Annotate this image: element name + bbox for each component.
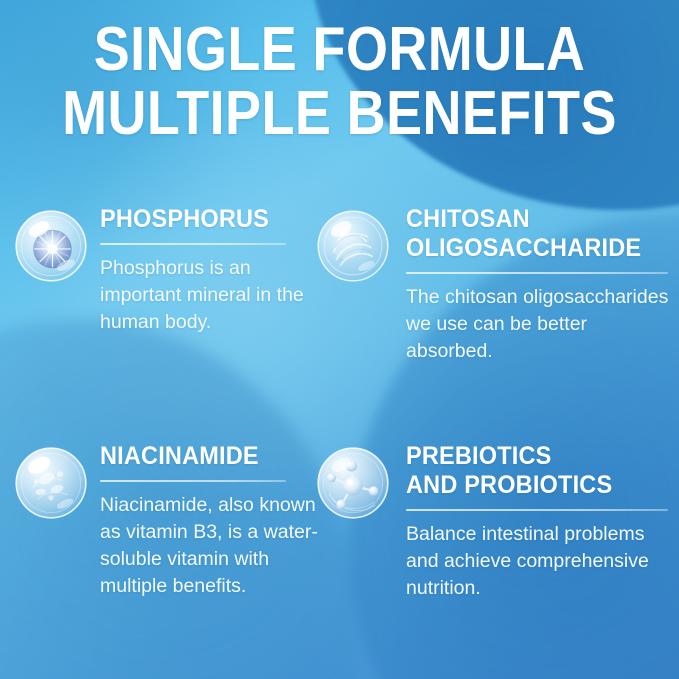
feature-description: The chitosan oligosaccharides we use can… (406, 284, 672, 365)
feature-body: PHOSPHORUS Phosphorus is an important mi… (100, 205, 334, 336)
headline-line-1: SINGLE FORMULA (44, 18, 635, 82)
water-bubble-icon (14, 446, 88, 520)
feature-grid: PHOSPHORUS Phosphorus is an important mi… (0, 205, 679, 679)
feature-title: CHITOSAN OLIGOSACCHARIDE (406, 205, 656, 263)
headline-line-2: MULTIPLE BENEFITS (44, 82, 635, 146)
feature-card-phosphorus: PHOSPHORUS Phosphorus is an important mi… (14, 205, 334, 336)
feature-body: CHITOSAN OLIGOSACCHARIDE The chitosan ol… (406, 205, 672, 365)
feature-divider (100, 480, 286, 482)
feature-description: Phosphorus is an important mineral in th… (100, 255, 325, 336)
feature-card-prebiotics-and-probiotics: PREBIOTICS AND PROBIOTICS Balance intest… (316, 442, 672, 602)
feature-divider (406, 272, 668, 274)
feature-title: PHOSPHORUS (100, 205, 320, 234)
feature-description: Balance intestinal problems and achieve … (406, 521, 672, 602)
feature-title-line-2: OLIGOSACCHARIDE (406, 234, 641, 262)
feature-title: PREBIOTICS AND PROBIOTICS (406, 442, 656, 500)
feature-divider (100, 243, 286, 245)
molecule-sphere-icon (316, 446, 390, 520)
feature-title-line-1: PREBIOTICS (406, 442, 552, 470)
crystal-sphere-icon (14, 209, 88, 283)
feature-description: Niacinamide, also known as vitamin B3, i… (100, 492, 325, 600)
feature-title-line-1: CHITOSAN (406, 205, 530, 233)
feature-title-line-2: AND PROBIOTICS (406, 471, 612, 499)
feature-card-niacinamide: NIACINAMIDE Niacinamide, also known as v… (14, 442, 334, 600)
feature-body: PREBIOTICS AND PROBIOTICS Balance intest… (406, 442, 672, 602)
swirl-sphere-icon (316, 209, 390, 283)
feature-divider (406, 509, 668, 511)
feature-card-chitosan-oligosaccharide: CHITOSAN OLIGOSACCHARIDE The chitosan ol… (316, 205, 672, 365)
feature-body: NIACINAMIDE Niacinamide, also known as v… (100, 442, 334, 600)
promo-poster: SINGLE FORMULA MULTIPLE BENEFITS (0, 0, 679, 679)
feature-title: NIACINAMIDE (100, 442, 320, 471)
page-title: SINGLE FORMULA MULTIPLE BENEFITS (0, 18, 679, 146)
